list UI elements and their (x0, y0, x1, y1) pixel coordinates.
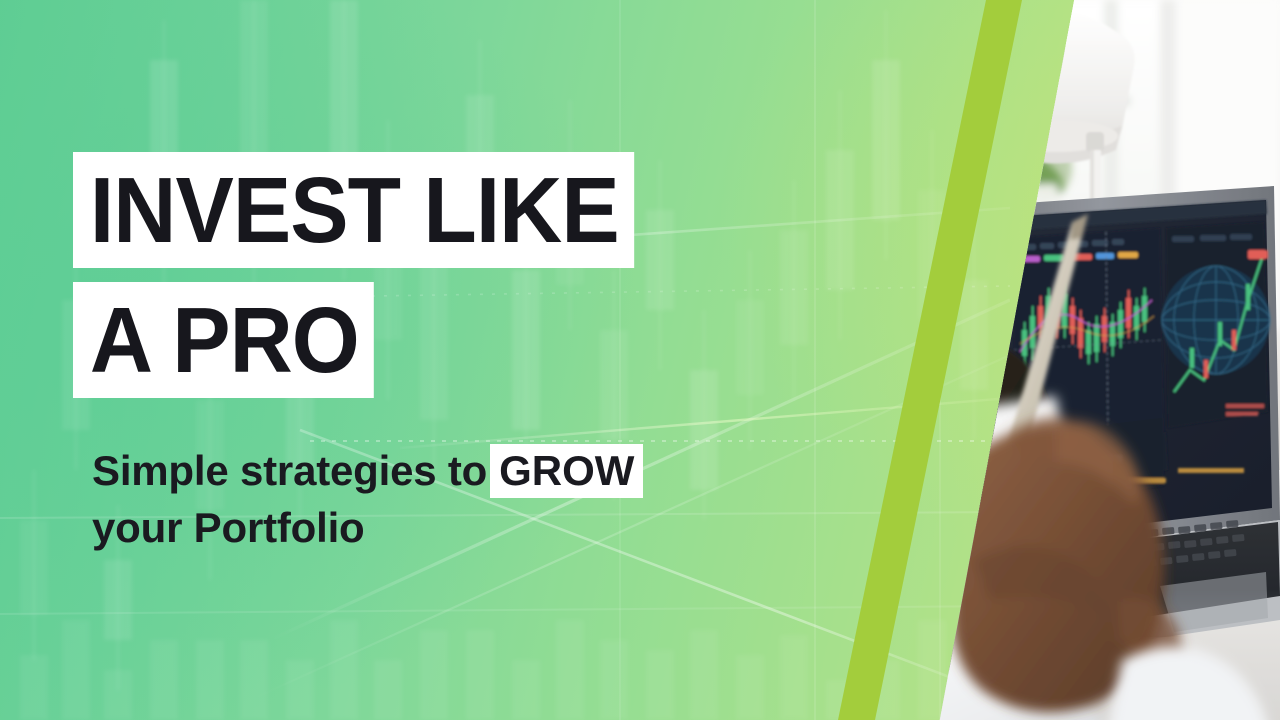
subtitle-line-2: your Portfolio (92, 499, 643, 556)
promo-banner: INVEST LIKE A PRO Simple strategies toGR… (0, 0, 1280, 720)
headline: INVEST LIKE A PRO (73, 152, 670, 398)
subtitle-prefix: Simple strategies to (92, 447, 487, 494)
headline-line-2: A PRO (73, 282, 374, 398)
subtitle-line-1: Simple strategies toGROW (92, 442, 643, 499)
subtitle-highlight-grow: GROW (490, 444, 643, 498)
subtitle: Simple strategies toGROW your Portfolio (92, 442, 643, 556)
headline-line-1: INVEST LIKE (73, 152, 634, 268)
